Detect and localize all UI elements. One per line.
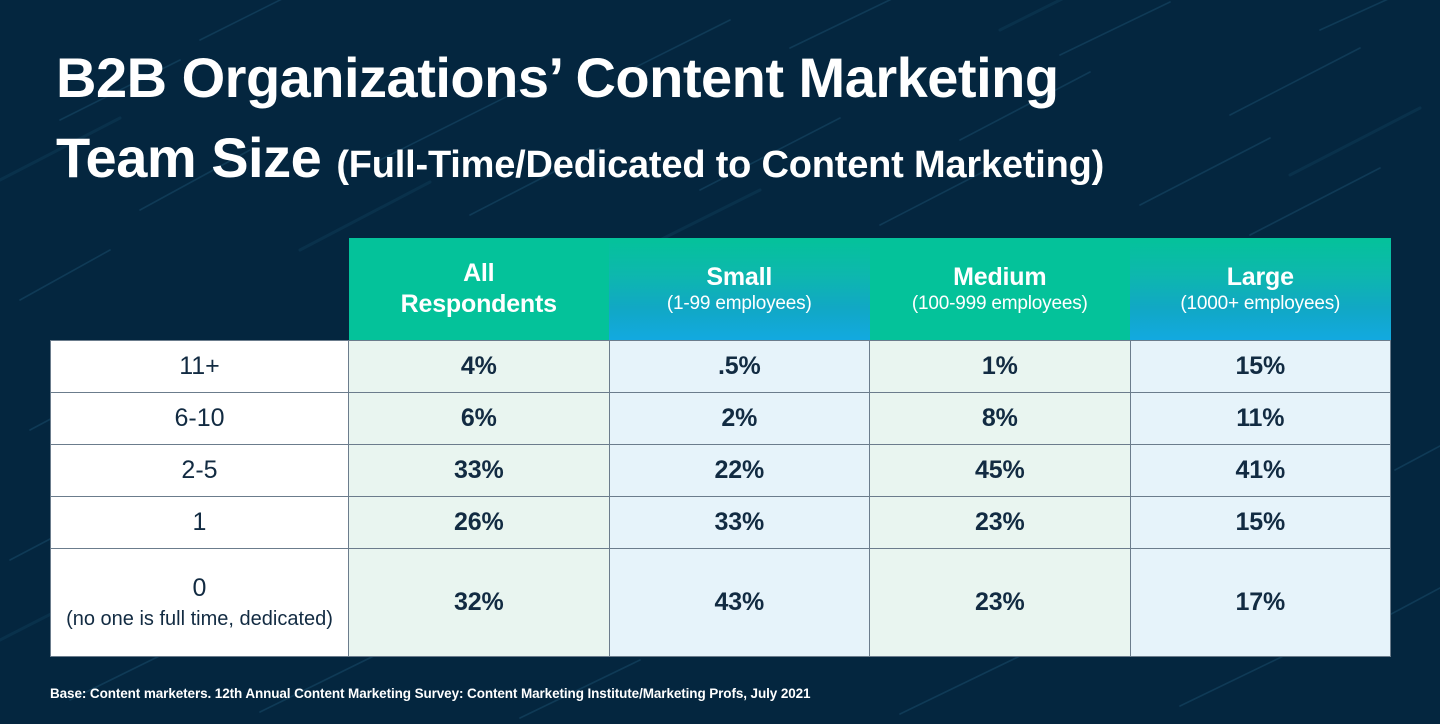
- table-header-row: All Respondents Small (1-99 employees) M…: [51, 238, 1391, 340]
- column-header-small-subtitle: (1-99 employees): [615, 293, 864, 314]
- row-label: 6-10: [51, 392, 349, 444]
- cell-medium: 1%: [870, 340, 1131, 392]
- cell-medium: 23%: [870, 496, 1131, 548]
- title-line-2-main: Team Size: [56, 126, 321, 189]
- team-size-table: All Respondents Small (1-99 employees) M…: [50, 238, 1391, 657]
- cell-medium: 8%: [870, 392, 1131, 444]
- row-label-zero-note: (no one is full time, dedicated): [61, 607, 338, 632]
- title-subtitle: (Full-Time/Dedicated to Content Marketin…: [336, 144, 1104, 186]
- cell-small: 22%: [609, 444, 870, 496]
- table-row: 11+ 4% .5% 1% 15%: [51, 340, 1391, 392]
- title-line-1: B2B Organizations’ Content Marketing: [56, 38, 1406, 118]
- source-note: Base: Content marketers. 12th Annual Con…: [50, 686, 810, 701]
- table-row: 6-10 6% 2% 8% 11%: [51, 392, 1391, 444]
- column-header-small: Small (1-99 employees): [609, 238, 870, 340]
- row-label-zero: 0 (no one is full time, dedicated): [51, 548, 349, 656]
- cell-all-respondents: 32%: [349, 548, 610, 656]
- row-label: 1: [51, 496, 349, 548]
- column-header-large: Large (1000+ employees): [1130, 238, 1391, 340]
- column-header-all-respondents-line2: Respondents: [355, 289, 604, 320]
- cell-small: 33%: [609, 496, 870, 548]
- cell-small: .5%: [609, 340, 870, 392]
- table-row: 2-5 33% 22% 45% 41%: [51, 444, 1391, 496]
- cell-all-respondents: 33%: [349, 444, 610, 496]
- table-header: All Respondents Small (1-99 employees) M…: [51, 238, 1391, 340]
- table-row: 1 26% 33% 23% 15%: [51, 496, 1391, 548]
- table-body: 11+ 4% .5% 1% 15% 6-10 6% 2% 8% 11% 2-5 …: [51, 340, 1391, 656]
- cell-large: 17%: [1130, 548, 1391, 656]
- column-header-all-respondents-line1: All: [355, 258, 604, 289]
- column-header-large-subtitle: (1000+ employees): [1136, 293, 1385, 314]
- row-label: 2-5: [51, 444, 349, 496]
- cell-all-respondents: 26%: [349, 496, 610, 548]
- title-line-2: Team Size (Full-Time/Dedicated to Conten…: [56, 118, 1406, 205]
- column-header-small-title: Small: [615, 263, 864, 291]
- page-title: B2B Organizations’ Content Marketing Tea…: [56, 38, 1406, 205]
- cell-large: 15%: [1130, 340, 1391, 392]
- cell-all-respondents: 4%: [349, 340, 610, 392]
- cell-small: 43%: [609, 548, 870, 656]
- cell-medium: 23%: [870, 548, 1131, 656]
- cell-large: 41%: [1130, 444, 1391, 496]
- cell-medium: 45%: [870, 444, 1131, 496]
- cell-small: 2%: [609, 392, 870, 444]
- cell-large: 15%: [1130, 496, 1391, 548]
- column-header-medium-subtitle: (100-999 employees): [876, 293, 1125, 314]
- cell-all-respondents: 6%: [349, 392, 610, 444]
- cell-large: 11%: [1130, 392, 1391, 444]
- row-label-zero-value: 0: [193, 574, 207, 602]
- table-row: 0 (no one is full time, dedicated) 32% 4…: [51, 548, 1391, 656]
- header-corner-spacer: [51, 238, 349, 340]
- column-header-large-title: Large: [1136, 263, 1385, 291]
- column-header-medium: Medium (100-999 employees): [870, 238, 1131, 340]
- column-header-all-respondents: All Respondents: [349, 238, 610, 340]
- row-label: 11+: [51, 340, 349, 392]
- column-header-medium-title: Medium: [876, 263, 1125, 291]
